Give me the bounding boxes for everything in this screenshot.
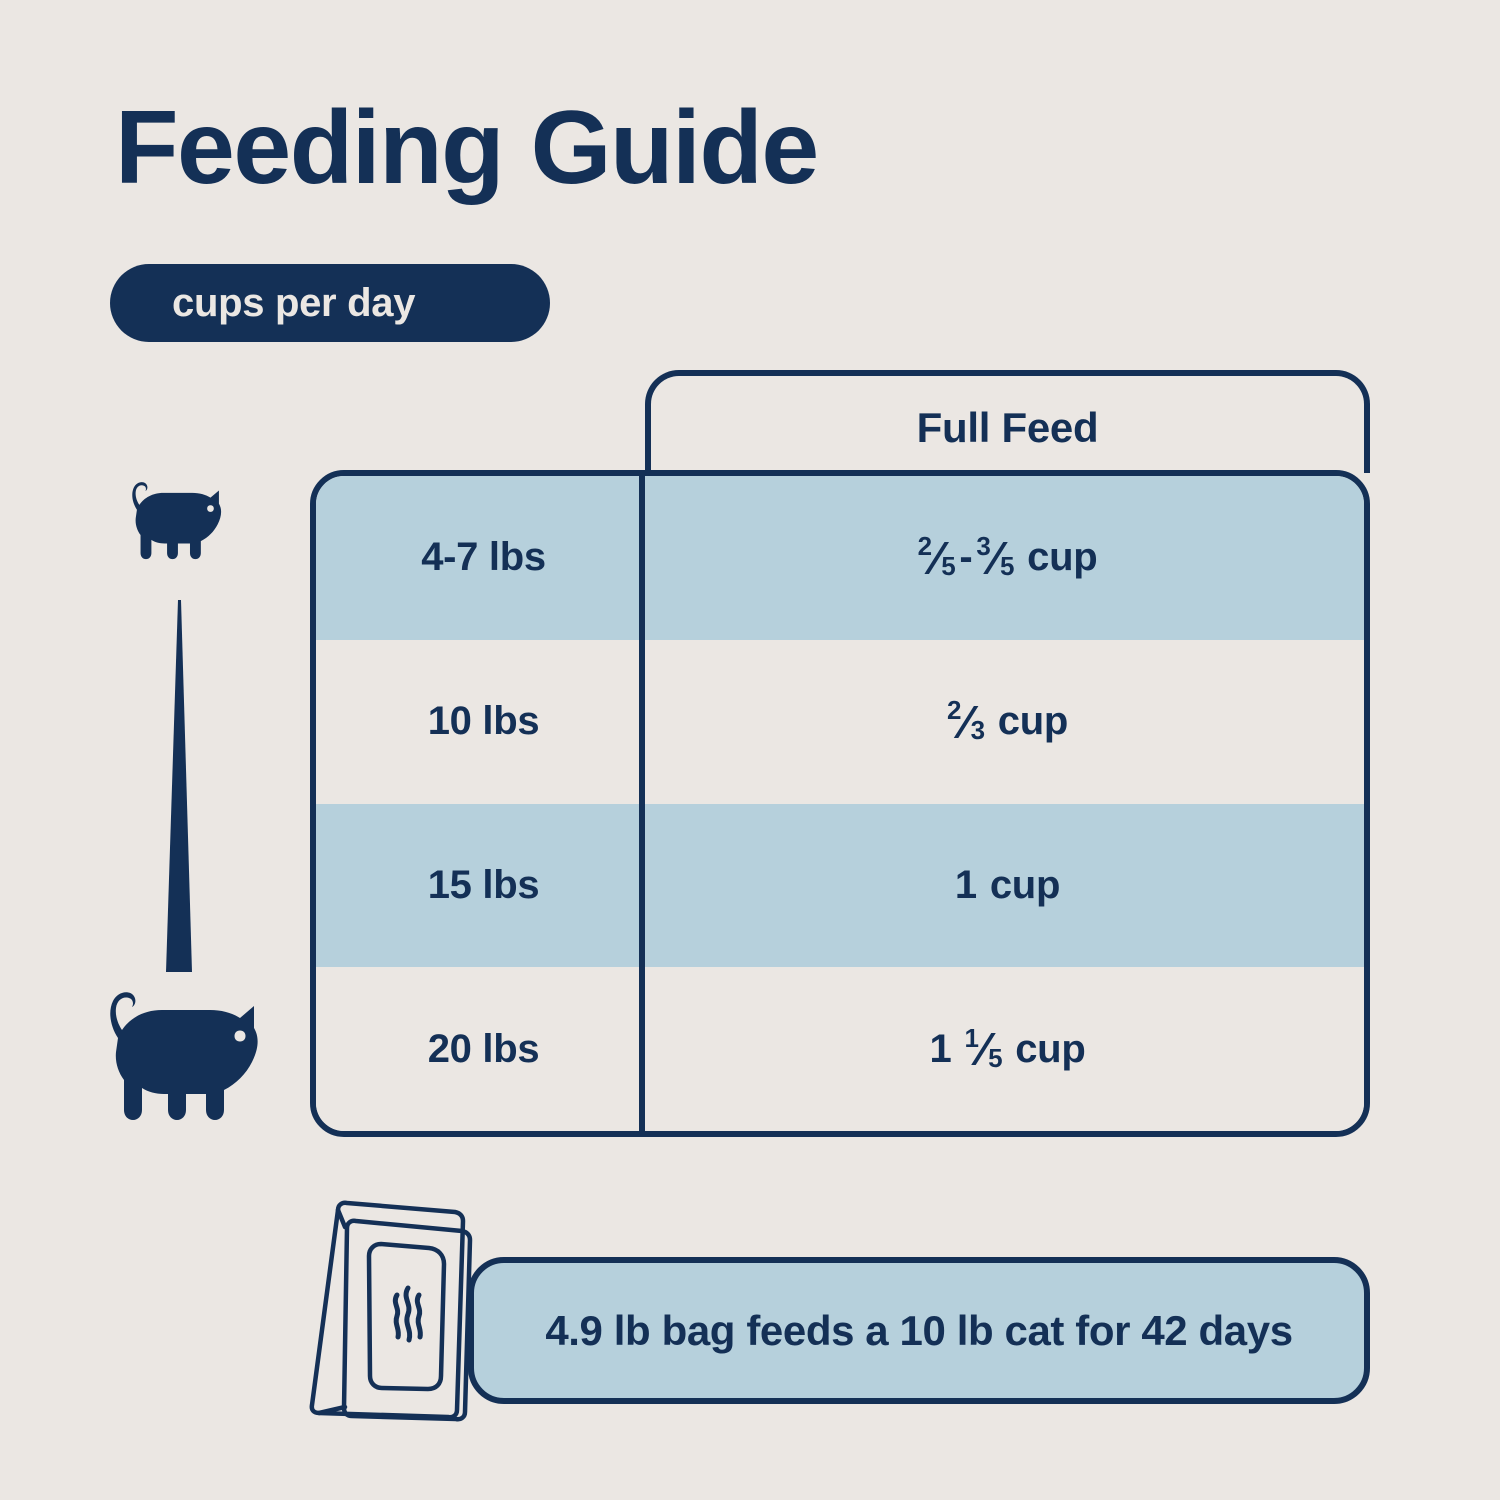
column-divider — [639, 470, 645, 1137]
bag-duration-banner: 4.9 lb bag feeds a 10 lb cat for 42 days — [468, 1257, 1370, 1404]
fraction-one-fifth: 1⁄5 — [965, 1022, 1003, 1076]
cups-per-day-badge: cups per day — [110, 264, 550, 342]
table-body: 4-7 lbs 2⁄5 - 3⁄5 cup 10 lbs — [310, 470, 1370, 1137]
cell-weight: 10 lbs — [316, 699, 651, 744]
column-header-label: Full Feed — [917, 404, 1099, 452]
banner-label: 4.9 lb bag feeds a 10 lb cat for 42 days — [545, 1307, 1292, 1355]
cat-size-scale — [70, 470, 295, 1140]
table-header-full-feed: Full Feed — [645, 370, 1370, 473]
cat-silhouette-large-icon — [82, 992, 272, 1128]
table-row: 20 lbs 1 1⁄5 cup — [316, 967, 1364, 1131]
cell-weight: 20 lbs — [316, 1027, 651, 1072]
whole-number: 1 — [955, 863, 977, 908]
badge-label: cups per day — [172, 281, 415, 326]
unit-label: cup — [1015, 1027, 1085, 1072]
cell-amount: 2⁄5 - 3⁄5 cup — [651, 531, 1364, 585]
unit-label: cup — [1027, 535, 1097, 580]
fraction-two-fifths: 2⁄5 — [918, 531, 956, 585]
cell-amount: 1 cup — [651, 863, 1364, 908]
whole-number: 1 — [930, 1027, 952, 1072]
food-bag-icon — [305, 1198, 517, 1433]
cell-weight: 4-7 lbs — [316, 535, 651, 580]
cell-amount: 2⁄3 cup — [651, 695, 1364, 749]
range-dash: - — [955, 535, 976, 580]
cell-weight: 15 lbs — [316, 863, 651, 908]
fraction-two-thirds: 2⁄3 — [947, 695, 985, 749]
feeding-table: Full Feed 4-7 lbs 2⁄5 - 3⁄5 c — [310, 370, 1370, 1140]
unit-label: cup — [998, 699, 1068, 744]
table-row: 10 lbs 2⁄3 cup — [316, 640, 1364, 804]
fraction-three-fifths: 3⁄5 — [976, 531, 1014, 585]
cat-silhouette-small-icon — [115, 482, 230, 564]
feeding-guide-page: Feeding Guide cups per day Full Feed 4-7… — [0, 0, 1500, 1500]
unit-label: cup — [990, 863, 1060, 908]
size-wedge-icon — [154, 600, 204, 972]
table-row: 15 lbs 1 cup — [316, 804, 1364, 968]
page-title: Feeding Guide — [115, 96, 818, 200]
table-row: 4-7 lbs 2⁄5 - 3⁄5 cup — [316, 476, 1364, 640]
cell-amount: 1 1⁄5 cup — [651, 1022, 1364, 1076]
